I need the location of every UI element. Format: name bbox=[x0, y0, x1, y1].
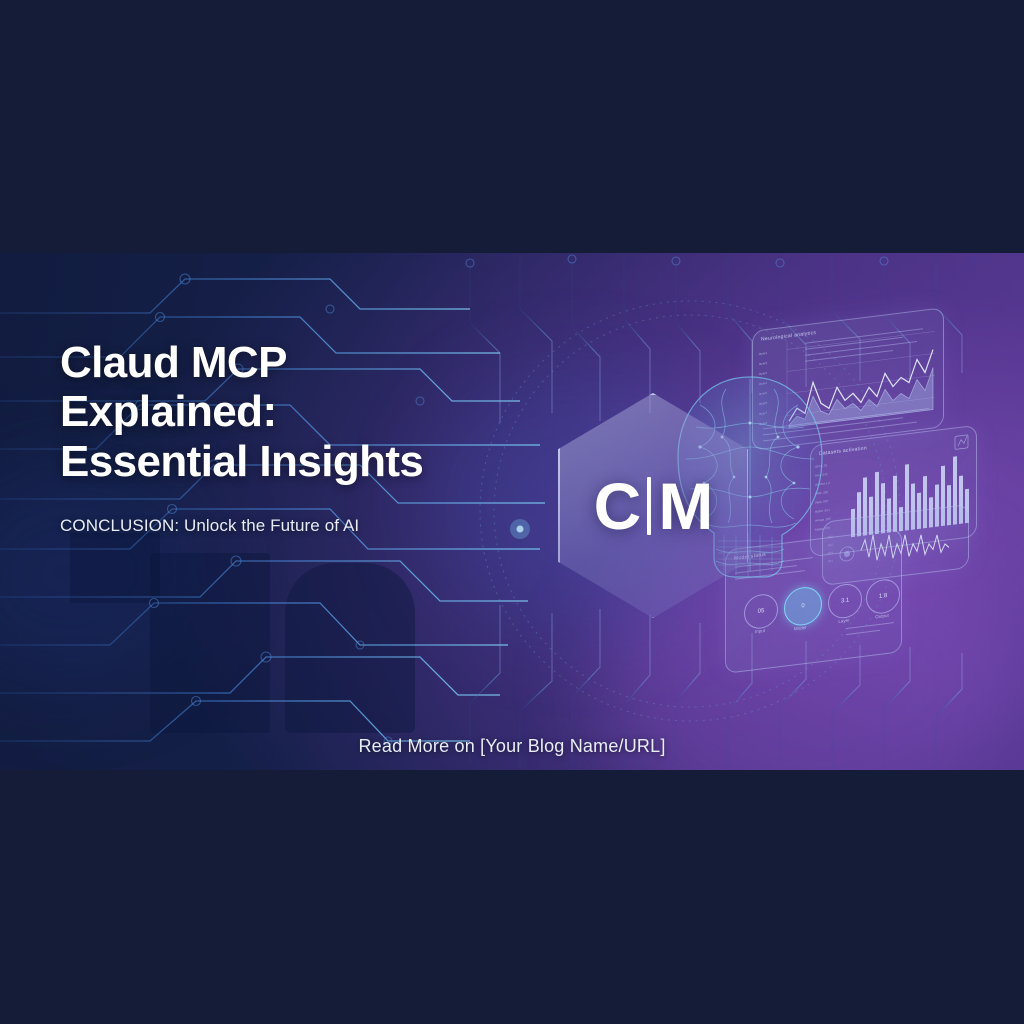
headline-line-1: Claud MCP bbox=[60, 338, 287, 387]
background-shape-1 bbox=[150, 553, 270, 733]
letterbox-bottom bbox=[0, 770, 1024, 1024]
gauge-value-0: 05 bbox=[744, 592, 778, 630]
gauge-label-2: Layer bbox=[838, 618, 849, 624]
gauge-widget-2[interactable]: 3.1 Layer bbox=[828, 582, 860, 618]
headline-line-2: Explained: bbox=[60, 387, 277, 436]
gauge-label-0: Input bbox=[755, 628, 765, 634]
cta-text[interactable]: Read More on [Your Blog Name/URL] bbox=[0, 736, 1024, 757]
gauge-label-3: Output bbox=[875, 613, 889, 620]
page-title: Claud MCP Explained: Essential Insights bbox=[60, 338, 490, 486]
gauge-widget-3[interactable]: 1.8 Output bbox=[866, 578, 898, 614]
headline-line-3: Essential Insights bbox=[60, 437, 423, 486]
logo-letter-c: C bbox=[594, 468, 641, 544]
background-shape-3 bbox=[70, 533, 160, 603]
hero-graphic: Neurological analytics layer1layer2 laye… bbox=[520, 313, 990, 743]
svg-text:layer1: layer1 bbox=[759, 351, 767, 356]
logo-letter-m: M bbox=[658, 468, 712, 544]
banner-canvas: Claud MCP Explained: Essential Insights … bbox=[0, 0, 1024, 1024]
gauge-value-2: 3.1 bbox=[828, 582, 862, 620]
background-shape-2 bbox=[285, 563, 415, 733]
gauge-widget-0[interactable]: 05 Input bbox=[744, 593, 776, 629]
banner-band: Claud MCP Explained: Essential Insights … bbox=[0, 253, 1024, 770]
subheadline: CONCLUSION: Unlock the Future of AI bbox=[60, 516, 490, 536]
logo-wordmark: C M bbox=[558, 393, 748, 618]
logo-divider-icon bbox=[647, 477, 651, 535]
letterbox-top bbox=[0, 0, 1024, 253]
gauge-value-3: 1.8 bbox=[866, 577, 900, 615]
gauge-label-1: Model bbox=[794, 625, 806, 632]
copy-block: Claud MCP Explained: Essential Insights … bbox=[60, 338, 490, 536]
